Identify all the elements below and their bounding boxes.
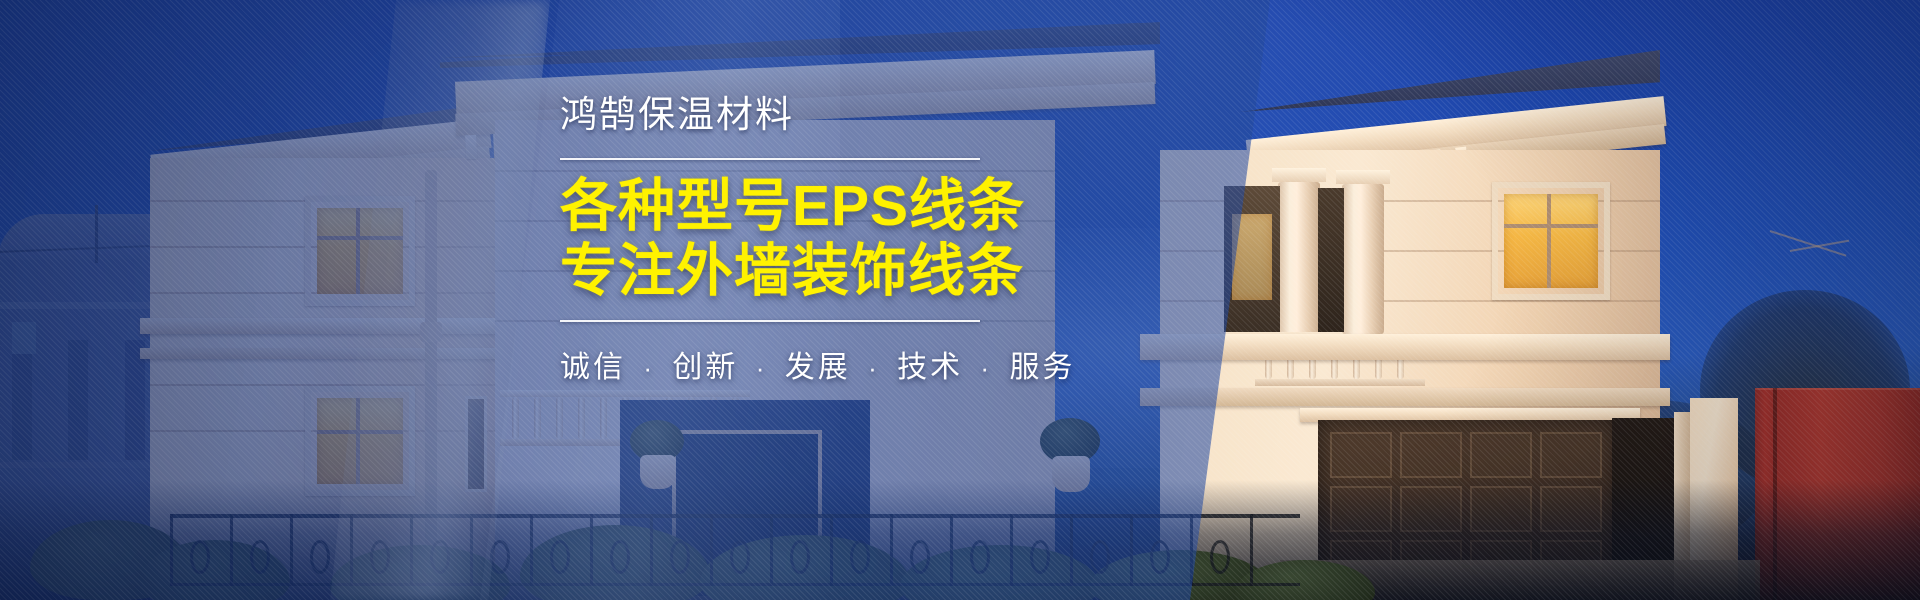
tagline-separator: · xyxy=(643,353,655,383)
tagline-separator: · xyxy=(868,353,880,383)
column xyxy=(1278,182,1320,332)
promo-banner: 鸿鹄保温材料 各种型号EPS线条 专注外墙装饰线条 诚信 · 创新 · 发展 ·… xyxy=(0,0,1920,600)
column-capital xyxy=(1272,168,1326,182)
divider-bottom xyxy=(560,320,980,322)
tagline-item-2: 创新 xyxy=(672,351,738,384)
tagline: 诚信 · 创新 · 发展 · 技术 · 服务 xyxy=(560,342,1040,386)
tagline-separator: · xyxy=(756,353,768,383)
tagline-item-4: 技术 xyxy=(897,351,963,384)
garage-lintel-band-2 xyxy=(1140,388,1670,406)
window-transom xyxy=(1504,224,1598,228)
tagline-item-5: 服务 xyxy=(1009,351,1075,384)
tagline-item-1: 诚信 xyxy=(560,351,626,384)
tagline-item-3: 发展 xyxy=(785,351,851,384)
banner-copy-block: 鸿鹄保温材料 各种型号EPS线条 专注外墙装饰线条 诚信 · 创新 · 发展 ·… xyxy=(560,96,1040,386)
window-lit xyxy=(1504,194,1598,288)
column-capital xyxy=(1336,170,1390,184)
brand-name: 鸿鹄保温材料 xyxy=(560,96,1040,135)
headline-line-1: 各种型号EPS线条 xyxy=(560,174,1040,239)
headline-line-2: 专注外墙装饰线条 xyxy=(560,239,1040,304)
tagline-separator: · xyxy=(980,353,992,383)
column xyxy=(1342,184,1384,334)
divider-top xyxy=(560,158,980,160)
portico-recess xyxy=(1318,188,1344,332)
window-mullion xyxy=(1547,194,1551,288)
